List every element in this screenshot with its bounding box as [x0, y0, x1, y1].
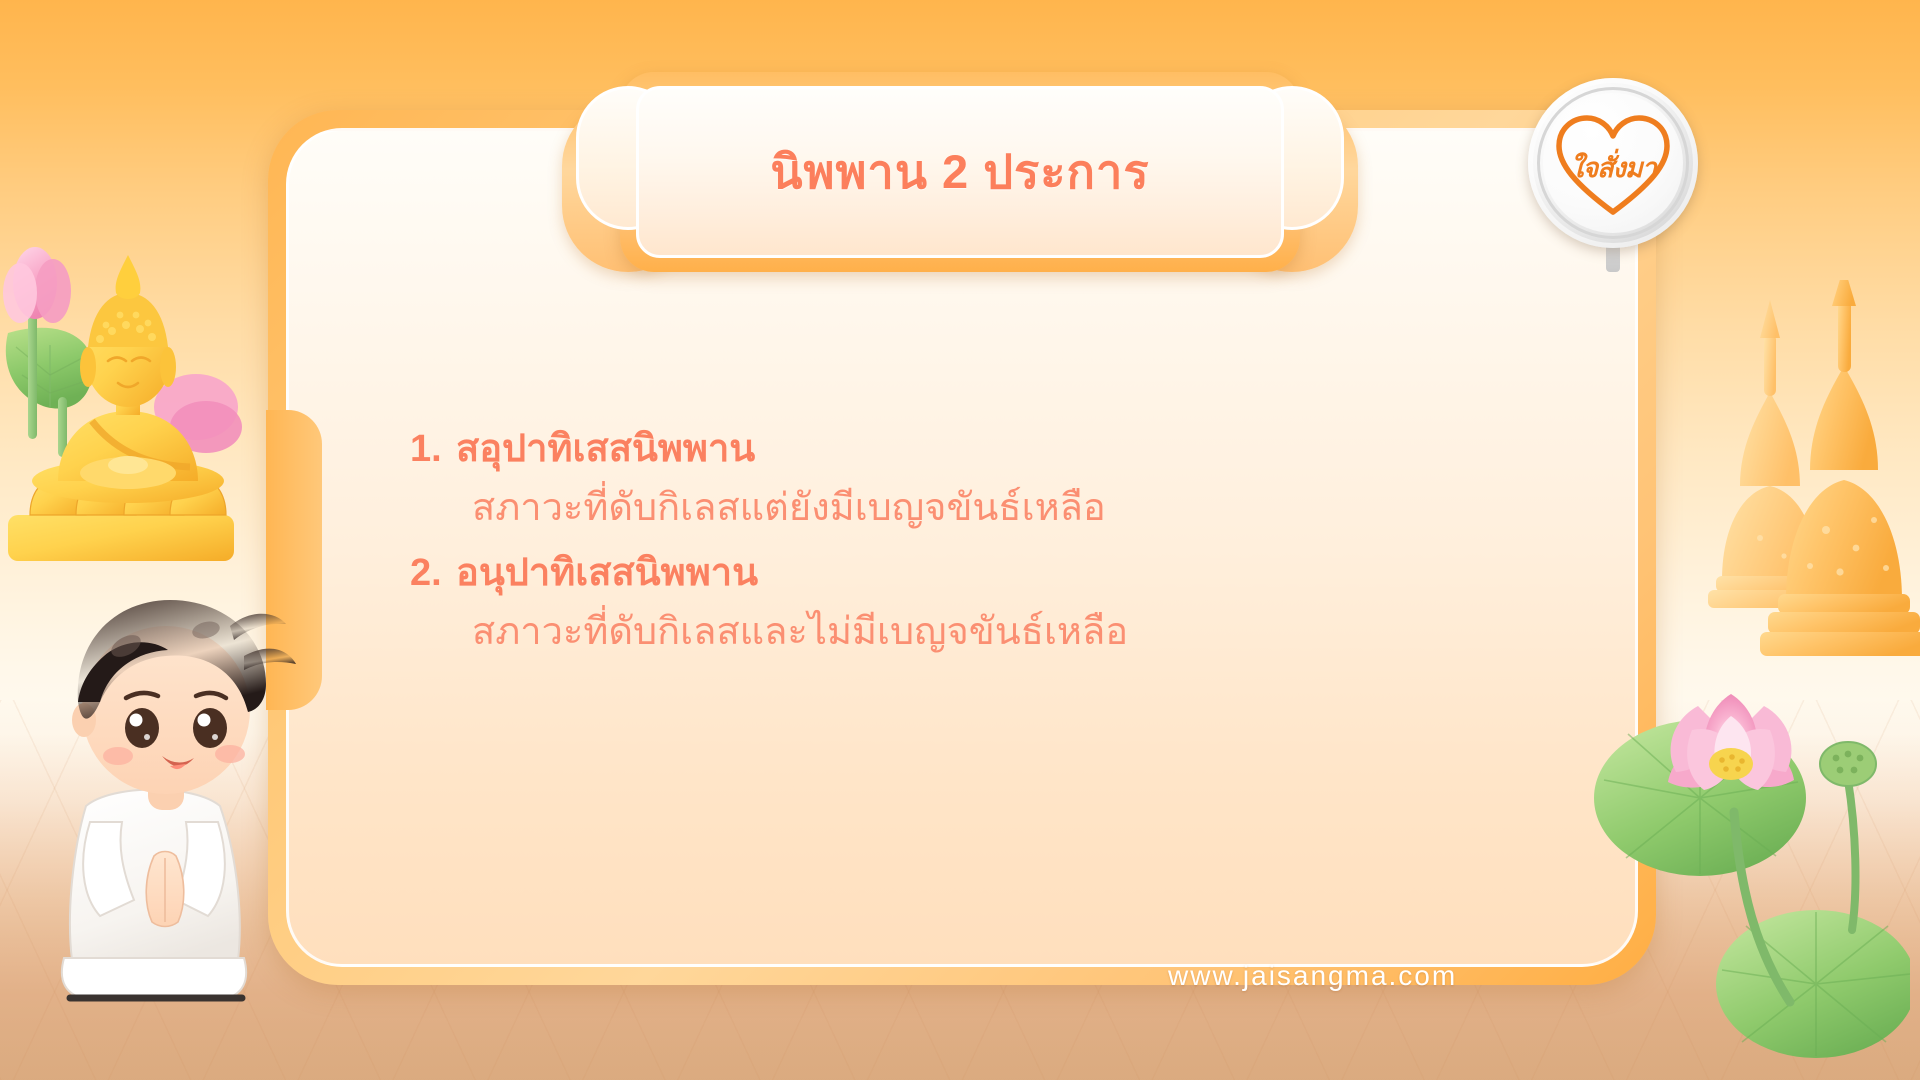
list-item-description: สภาวะที่ดับกิเลสและไม่มีเบญจขันธ์เหลือ	[410, 603, 1470, 662]
list-item-heading-row: 2. อนุปาทิเสสนิพพาน	[410, 544, 1470, 603]
slide-canvas: นิพพาน 2 ประการ 1. สอุปาทิเสสนิพพาน สภาว…	[0, 0, 1920, 1080]
badge-face: ใจสั่งมา	[1543, 93, 1683, 233]
title-banner: นิพพาน 2 ประการ	[620, 72, 1300, 272]
list-item: 1. สอุปาทิเสสนิพพาน สภาวะที่ดับกิเลสแต่ย…	[410, 420, 1470, 538]
brand-logo-badge[interactable]: ใจสั่งมา	[1528, 78, 1698, 248]
list-item-number: 1.	[410, 420, 456, 479]
site-url[interactable]: www.jaisangma.com	[1168, 960, 1457, 992]
list-item-title: อนุปาทิเสสนิพพาน	[456, 544, 758, 603]
list-item-number: 2.	[410, 544, 456, 603]
list-item-title: สอุปาทิเสสนิพพาน	[456, 420, 755, 479]
brand-name: ใจสั่งมา	[1570, 146, 1656, 189]
page-title: นิพพาน 2 ประการ	[770, 146, 1149, 198]
list-item: 2. อนุปาทิเสสนิพพาน สภาวะที่ดับกิเลสและไ…	[410, 544, 1470, 662]
list-item-heading-row: 1. สอุปาทิเสสนิพพาน	[410, 420, 1470, 479]
nirvana-list: 1. สอุปาทิเสสนิพพาน สภาวะที่ดับกิเลสแต่ย…	[410, 420, 1470, 668]
buddha-statue-illustration	[0, 215, 270, 575]
list-item-description: สภาวะที่ดับกิเลสแต่ยังมีเบญจขันธ์เหลือ	[410, 479, 1470, 538]
title-banner-inner: นิพพาน 2 ประการ	[636, 86, 1284, 258]
praying-boy-illustration	[30, 560, 300, 1030]
lotus-flower-illustration	[1580, 630, 1910, 1080]
